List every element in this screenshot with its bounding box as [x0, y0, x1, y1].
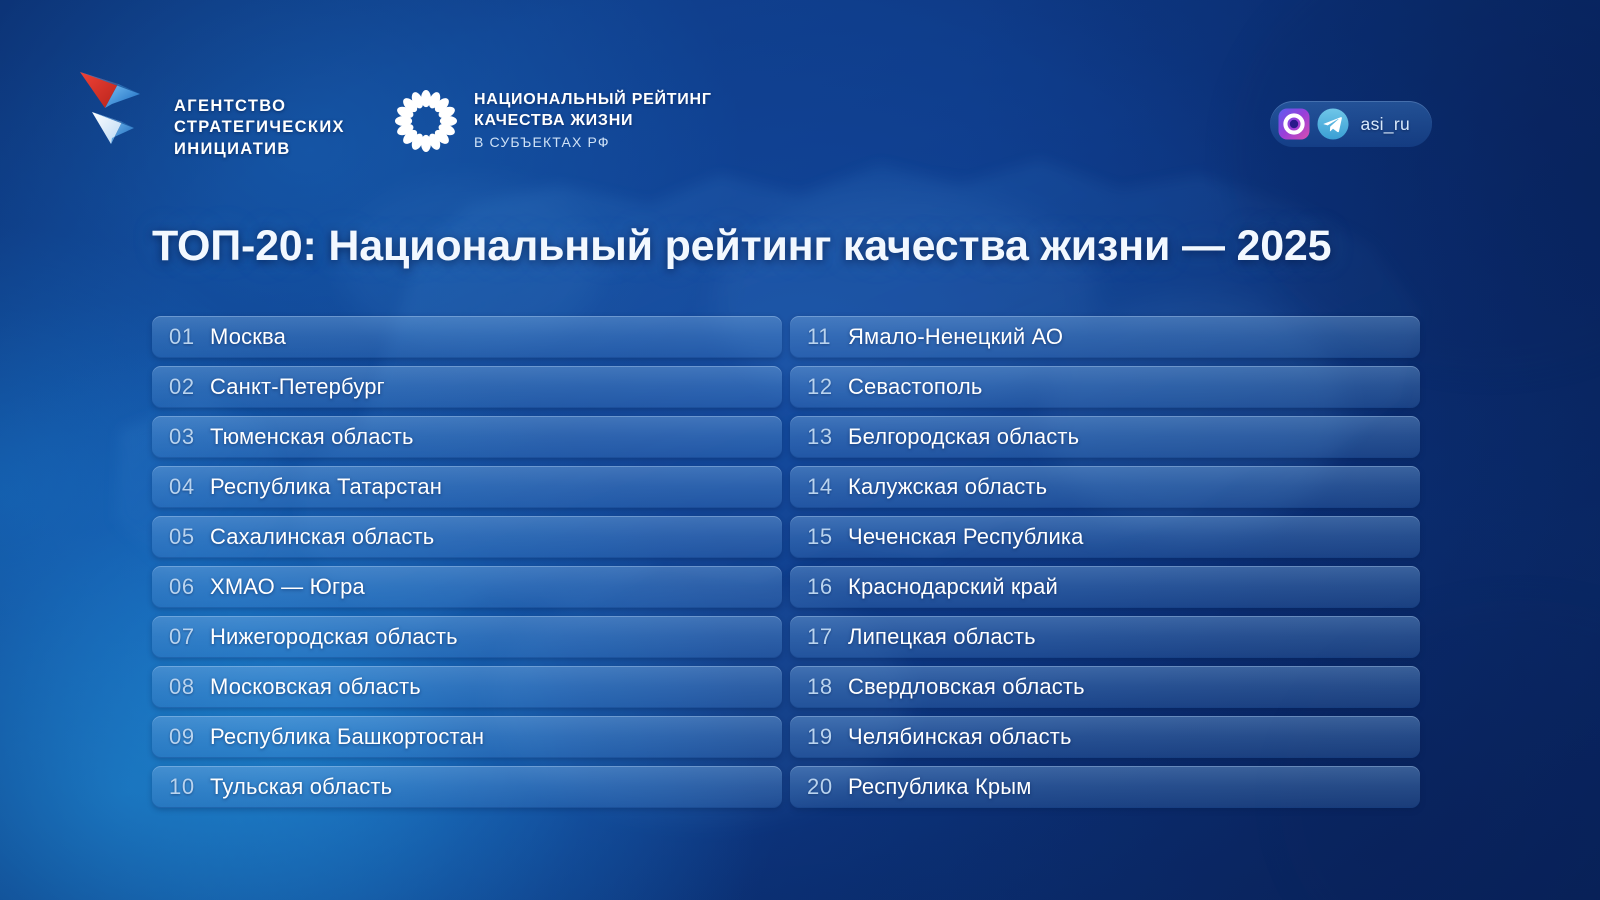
- rank-row[interactable]: 07 Нижегородская область: [152, 616, 782, 658]
- rank-row[interactable]: 06 ХМАО — Югра: [152, 566, 782, 608]
- rank-number: 10: [152, 774, 210, 800]
- ranking-column-right: 11 Ямало-Ненецкий АО 12 Севастополь 13 Б…: [790, 316, 1420, 808]
- asi-line-3: инициатив: [174, 139, 345, 160]
- rank-row[interactable]: 13 Белгородская область: [790, 416, 1420, 458]
- rank-number: 14: [790, 474, 848, 500]
- rank-region-name: Челябинская область: [848, 724, 1072, 750]
- rank-region-name: Московская область: [210, 674, 421, 700]
- rank-region-name: Тульская область: [210, 774, 392, 800]
- rating-wordmark: Национальный рейтинг качества жизни в су…: [474, 90, 712, 151]
- rank-number: 04: [152, 474, 210, 500]
- social-handle[interactable]: asi_ru: [1361, 114, 1410, 135]
- rank-number: 01: [152, 324, 210, 350]
- rating-line-2: качества жизни: [474, 111, 712, 132]
- rank-region-name: Тюменская область: [210, 424, 414, 450]
- rank-row[interactable]: 10 Тульская область: [152, 766, 782, 808]
- rank-number: 20: [790, 774, 848, 800]
- asi-line-2: стратегических: [174, 117, 345, 138]
- rank-number: 05: [152, 524, 210, 550]
- infographic-slide: Агентство стратегических инициатив: [0, 0, 1600, 900]
- asi-arrow-logo-icon: [78, 64, 164, 152]
- rank-row[interactable]: 18 Свердловская область: [790, 666, 1420, 708]
- rank-region-name: Сахалинская область: [210, 524, 434, 550]
- rank-region-name: Свердловская область: [848, 674, 1085, 700]
- rank-row[interactable]: 15 Чеченская Республика: [790, 516, 1420, 558]
- rank-row[interactable]: 16 Краснодарский край: [790, 566, 1420, 608]
- rank-row[interactable]: 01 Москва: [152, 316, 782, 358]
- rank-region-name: Белгородская область: [848, 424, 1079, 450]
- rank-row[interactable]: 05 Сахалинская область: [152, 516, 782, 558]
- rank-row[interactable]: 20 Республика Крым: [790, 766, 1420, 808]
- header: Агентство стратегических инициатив: [0, 0, 1600, 200]
- rank-row[interactable]: 17 Липецкая область: [790, 616, 1420, 658]
- rank-region-name: Санкт-Петербург: [210, 374, 385, 400]
- rank-number: 12: [790, 374, 848, 400]
- rank-number: 08: [152, 674, 210, 700]
- rank-region-name: Чеченская Республика: [848, 524, 1084, 550]
- rank-row[interactable]: 02 Санкт-Петербург: [152, 366, 782, 408]
- telegram-icon[interactable]: [1317, 108, 1349, 140]
- rating-logo[interactable]: Национальный рейтинг качества жизни в су…: [393, 88, 712, 154]
- rank-number: 11: [790, 324, 848, 350]
- rank-region-name: Ямало-Ненецкий АО: [848, 324, 1063, 350]
- rank-number: 17: [790, 624, 848, 650]
- rank-region-name: Республика Татарстан: [210, 474, 442, 500]
- rank-number: 18: [790, 674, 848, 700]
- social-badge[interactable]: asi_ru: [1270, 101, 1432, 147]
- max-messenger-icon[interactable]: [1278, 108, 1310, 140]
- asi-line-1: Агентство: [174, 96, 345, 117]
- rank-number: 13: [790, 424, 848, 450]
- rank-region-name: Севастополь: [848, 374, 982, 400]
- rank-row[interactable]: 08 Московская область: [152, 666, 782, 708]
- asi-logo[interactable]: Агентство стратегических инициатив: [78, 62, 345, 160]
- rank-region-name: Москва: [210, 324, 286, 350]
- rank-number: 06: [152, 574, 210, 600]
- rank-number: 15: [790, 524, 848, 550]
- rating-line-1: Национальный рейтинг: [474, 90, 712, 111]
- rank-number: 02: [152, 374, 210, 400]
- rank-row[interactable]: 12 Севастополь: [790, 366, 1420, 408]
- rank-region-name: Нижегородская область: [210, 624, 458, 650]
- rating-line-3: в субъектах РФ: [474, 133, 712, 151]
- rank-row[interactable]: 03 Тюменская область: [152, 416, 782, 458]
- rank-number: 07: [152, 624, 210, 650]
- rank-row[interactable]: 11 Ямало-Ненецкий АО: [790, 316, 1420, 358]
- ranking-column-left: 01 Москва 02 Санкт-Петербург 03 Тюменска…: [152, 316, 782, 808]
- rank-number: 09: [152, 724, 210, 750]
- rank-row[interactable]: 09 Республика Башкортостан: [152, 716, 782, 758]
- rank-region-name: Республика Крым: [848, 774, 1032, 800]
- rank-number: 16: [790, 574, 848, 600]
- rank-row[interactable]: 14 Калужская область: [790, 466, 1420, 508]
- rank-region-name: Краснодарский край: [848, 574, 1058, 600]
- flower-petal-logo-icon: [393, 88, 459, 154]
- rank-row[interactable]: 04 Республика Татарстан: [152, 466, 782, 508]
- rank-row[interactable]: 19 Челябинская область: [790, 716, 1420, 758]
- ranking-list: 01 Москва 02 Санкт-Петербург 03 Тюменска…: [152, 316, 1420, 808]
- rank-region-name: Республика Башкортостан: [210, 724, 484, 750]
- rank-region-name: Липецкая область: [848, 624, 1036, 650]
- rank-number: 19: [790, 724, 848, 750]
- rank-region-name: ХМАО — Югра: [210, 574, 365, 600]
- page-title: ТОП-20: Национальный рейтинг качества жи…: [152, 222, 1331, 271]
- rank-number: 03: [152, 424, 210, 450]
- asi-wordmark: Агентство стратегических инициатив: [174, 96, 345, 160]
- rank-region-name: Калужская область: [848, 474, 1047, 500]
